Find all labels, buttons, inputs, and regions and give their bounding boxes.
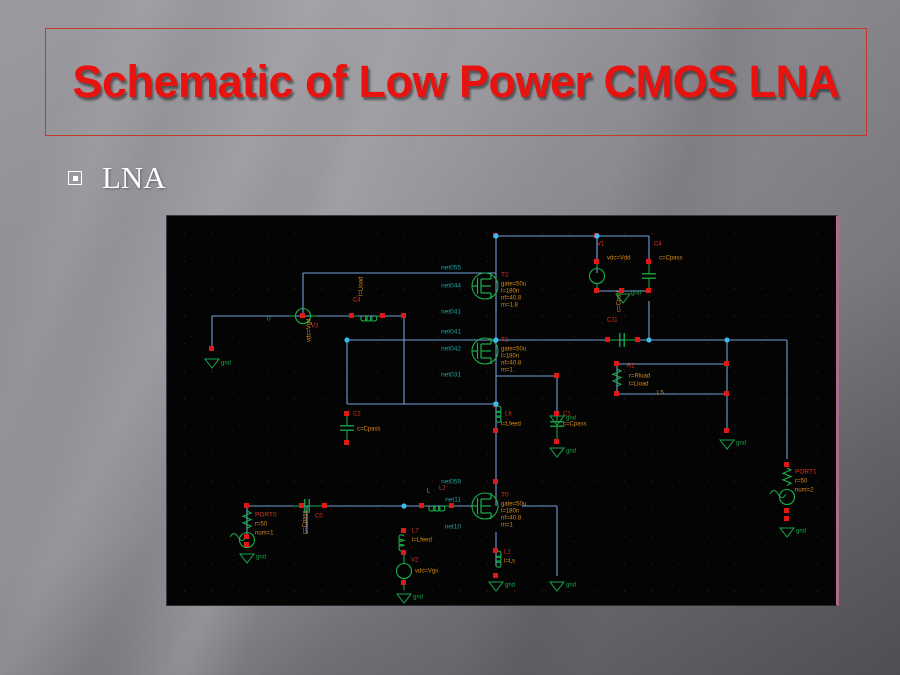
svg-text:l=180n: l=180n xyxy=(501,354,519,360)
schematic-drawing: net055 net044 net041 net041 net042 net03… xyxy=(167,216,836,605)
svg-text:L7: L7 xyxy=(412,529,419,535)
svg-text:C4: C4 xyxy=(654,242,662,248)
svg-text:R2: R2 xyxy=(627,364,635,370)
device-PORT1: PORT1 r=50 num=2 xyxy=(770,468,817,505)
device-R2: R2 r=Rload l=Lload L5 xyxy=(613,364,664,397)
device-L4: C4 l=Lload xyxy=(352,276,383,321)
svg-text:gate=50u: gate=50u xyxy=(501,282,526,288)
device-L1: L1 l=Ls xyxy=(496,550,515,568)
svg-text:nf=40.8: nf=40.8 xyxy=(501,296,522,302)
svg-text:net044: net044 xyxy=(441,283,461,290)
svg-text:V1: V1 xyxy=(597,242,605,248)
svg-text:gnd: gnd xyxy=(566,416,576,422)
svg-text:l=Ls: l=Ls xyxy=(504,559,515,565)
svg-text:r=50: r=50 xyxy=(255,522,268,528)
svg-text:nf=40.8: nf=40.8 xyxy=(501,516,522,522)
svg-text:L6: L6 xyxy=(505,412,512,418)
svg-text:net031: net031 xyxy=(441,372,461,379)
svg-text:T0: T0 xyxy=(501,492,509,499)
device-C0: C0 c=Cpass xyxy=(293,499,323,534)
svg-text:vdc=Vdd: vdc=Vdd xyxy=(607,256,631,262)
svg-text:gnd: gnd xyxy=(631,291,641,297)
svg-text:T2: T2 xyxy=(501,272,509,279)
svg-text:c=Cpass: c=Cpass xyxy=(659,256,683,262)
svg-text:0: 0 xyxy=(267,316,271,323)
svg-text:c=Cpass: c=Cpass xyxy=(563,422,587,428)
net-labels: net055 net044 net041 net041 net042 net03… xyxy=(267,265,461,531)
svg-text:C2: C2 xyxy=(353,412,361,418)
device-T0: T0 gate=50u l=180n nf=40.8 m=1 xyxy=(472,492,526,529)
svg-text:net041: net041 xyxy=(441,329,461,336)
page-title: Schematic of Low Power CMOS LNA xyxy=(46,29,866,135)
svg-text:gnd: gnd xyxy=(221,361,231,367)
svg-text:L: L xyxy=(427,489,431,495)
svg-text:m=1: m=1 xyxy=(501,368,514,374)
slide-canvas: Schematic of Low Power CMOS LNA LNA xyxy=(0,0,900,675)
svg-text:m=1: m=1 xyxy=(501,523,514,529)
schematic-image: net055 net044 net041 net041 net042 net03… xyxy=(166,215,839,606)
svg-text:l=Lfeed: l=Lfeed xyxy=(412,538,432,544)
device-C2: C2 c=Cpass xyxy=(340,412,381,443)
svg-text:V2: V2 xyxy=(411,558,419,564)
svg-text:num=1: num=1 xyxy=(255,531,274,537)
svg-text:T1: T1 xyxy=(501,337,509,344)
svg-text:c=Cpass: c=Cpass xyxy=(303,510,309,534)
svg-text:c=Cpass: c=Cpass xyxy=(357,427,381,433)
svg-text:net10: net10 xyxy=(445,524,462,531)
title-box: Schematic of Low Power CMOS LNA xyxy=(45,28,867,136)
bullet-item-label: LNA xyxy=(102,160,166,196)
svg-text:l=Lload: l=Lload xyxy=(359,276,365,296)
svg-text:net041: net041 xyxy=(441,309,461,316)
svg-text:l=Lload: l=Lload xyxy=(629,382,649,388)
svg-text:l=180n: l=180n xyxy=(501,289,519,295)
svg-text:vdc=Vgs: vdc=Vgs xyxy=(415,569,438,575)
pin-dots xyxy=(209,233,789,585)
svg-text:gnd: gnd xyxy=(566,449,576,455)
svg-text:vdc=Vgd: vdc=Vgd xyxy=(307,318,313,342)
svg-text:PORT0: PORT0 xyxy=(255,512,277,519)
svg-text:r=50: r=50 xyxy=(795,479,808,485)
svg-text:gnd: gnd xyxy=(413,595,423,601)
svg-text:gate=50u: gate=50u xyxy=(501,347,526,353)
svg-text:net042: net042 xyxy=(441,346,461,353)
svg-text:l=Lfeed: l=Lfeed xyxy=(501,422,521,428)
svg-text:gnd: gnd xyxy=(566,583,576,589)
device-V1: V1 vdc=Vdd xyxy=(590,242,631,291)
svg-text:gnd: gnd xyxy=(736,441,746,447)
device-PORT0: PORT0 r=50 num=1 xyxy=(230,511,277,548)
svg-text:gnd: gnd xyxy=(256,555,266,561)
svg-text:num=2: num=2 xyxy=(795,488,814,494)
svg-text:C4: C4 xyxy=(353,298,361,304)
device-C4: C4 c=Cpass xyxy=(642,242,683,291)
svg-text:L1: L1 xyxy=(504,550,511,556)
square-bullet-icon xyxy=(68,171,82,185)
svg-text:C11: C11 xyxy=(607,318,618,324)
device-T2: T2 gate=50u l=180n nf=40.8 m=1.8 xyxy=(472,272,526,309)
svg-text:r=Rload: r=Rload xyxy=(629,374,650,380)
svg-text:gnd: gnd xyxy=(796,529,806,535)
svg-text:gate=50u: gate=50u xyxy=(501,502,526,508)
device-T1: T1 gate=50u l=180n nf=40.8 m=1 xyxy=(472,337,526,374)
svg-text:L2: L2 xyxy=(439,486,446,492)
device-C11: C11 c=Cpad xyxy=(607,291,637,347)
svg-text:C0: C0 xyxy=(315,514,323,520)
svg-text:gnd: gnd xyxy=(505,583,515,589)
svg-text:l=180n: l=180n xyxy=(501,509,519,515)
svg-text:m=1.8: m=1.8 xyxy=(501,303,519,309)
device-L6: L6 l=Lfeed xyxy=(496,406,521,427)
svg-text:L5: L5 xyxy=(657,391,664,397)
svg-text:net11: net11 xyxy=(445,497,461,504)
svg-text:net055: net055 xyxy=(441,265,461,272)
svg-text:nf=40.8: nf=40.8 xyxy=(501,361,522,367)
svg-text:PORT1: PORT1 xyxy=(795,469,817,476)
junction-dots xyxy=(344,233,729,508)
bullet-list-item: LNA xyxy=(68,160,166,196)
